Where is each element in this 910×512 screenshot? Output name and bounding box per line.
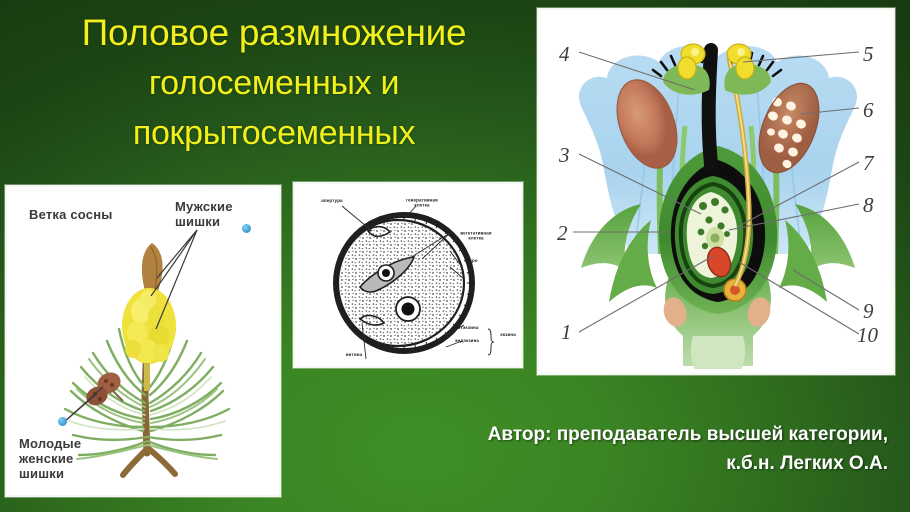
flower-number-9: 9 xyxy=(863,299,874,324)
generative-cell-line-2: клетка xyxy=(392,203,452,209)
female-cones-label-line-3: шишки xyxy=(19,466,139,481)
author-credit: Автор: преподаватель высшей категории, к… xyxy=(418,420,888,478)
slide-canvas: Половое размножение голосеменных и покры… xyxy=(0,0,910,512)
male-cones-label: Мужские шишки xyxy=(175,199,267,229)
pollen-grain-diagram-panel: апертура генеративная клетка вегетативна… xyxy=(293,182,523,368)
flower-section-diagram-panel: 4 3 2 1 5 6 7 8 9 10 xyxy=(537,8,895,375)
young-female-cones-label: Молодые женские шишки xyxy=(19,436,139,481)
male-cones-label-line-1: Мужские xyxy=(175,199,267,214)
pine-branch-image-panel: Ветка сосны Мужские шишки Молодые женски… xyxy=(5,185,281,497)
intine-label: интина xyxy=(334,352,374,358)
ectexine-label-text: эктэкзина xyxy=(455,325,478,330)
endexine-label-text: эндэкзина xyxy=(455,338,479,343)
pine-branch-label: Ветка сосны xyxy=(29,207,113,222)
vegetative-cell-line-2: клетка xyxy=(444,236,509,242)
flower-number-5: 5 xyxy=(863,42,874,67)
flower-number-2: 2 xyxy=(557,221,568,246)
title-line-3: покрытосеменных xyxy=(18,108,530,158)
generative-cell-label: генеративная клетка xyxy=(392,198,452,209)
author-line-1: Автор: преподаватель высшей категории, xyxy=(418,420,888,449)
flower-number-6: 6 xyxy=(863,98,874,123)
vegetative-cell-label: вегетативная клетка xyxy=(444,231,509,242)
title-line-1: Половое размножение xyxy=(18,8,530,58)
page-title: Половое размножение голосеменных и покры… xyxy=(18,8,530,158)
female-cones-label-line-1: Молодые xyxy=(19,436,139,451)
flower-number-4: 4 xyxy=(559,42,570,67)
aperture-label-text: апертура xyxy=(321,198,342,203)
pollen-grain-illustration: апертура генеративная клетка вегетативна… xyxy=(298,187,518,363)
female-cones-pin xyxy=(58,417,67,426)
pine-branch-label-text: Ветка сосны xyxy=(29,207,113,222)
exine-label-text: экзина xyxy=(500,332,516,337)
pine-branch-illustration: Ветка сосны Мужские шишки Молодые женски… xyxy=(11,191,275,491)
author-line-2: к.б.н. Легких О.А. xyxy=(418,449,888,478)
ectexine-label: эктэкзина xyxy=(441,325,494,331)
flower-number-3: 3 xyxy=(559,143,570,168)
exine-label: экзина xyxy=(491,332,519,338)
flower-number-7: 7 xyxy=(863,151,874,176)
male-cones-label-line-2: шишки xyxy=(175,214,267,229)
flower-number-1: 1 xyxy=(561,320,572,345)
flower-section-illustration: 4 3 2 1 5 6 7 8 9 10 xyxy=(543,14,889,369)
nucleus-label-text: ядро xyxy=(466,258,477,263)
title-line-2: голосеменных и xyxy=(18,58,530,108)
pollen-grain-drawing xyxy=(298,187,518,363)
female-cones-label-line-2: женские xyxy=(19,451,139,466)
flower-section-drawing xyxy=(543,14,889,369)
flower-number-8: 8 xyxy=(863,193,874,218)
intine-label-text: интина xyxy=(346,352,362,357)
nucleus-label: ядро xyxy=(452,258,492,264)
flower-number-10: 10 xyxy=(857,323,878,348)
endexine-label: эндэкзина xyxy=(441,338,494,344)
aperture-label: апертура xyxy=(307,198,357,204)
